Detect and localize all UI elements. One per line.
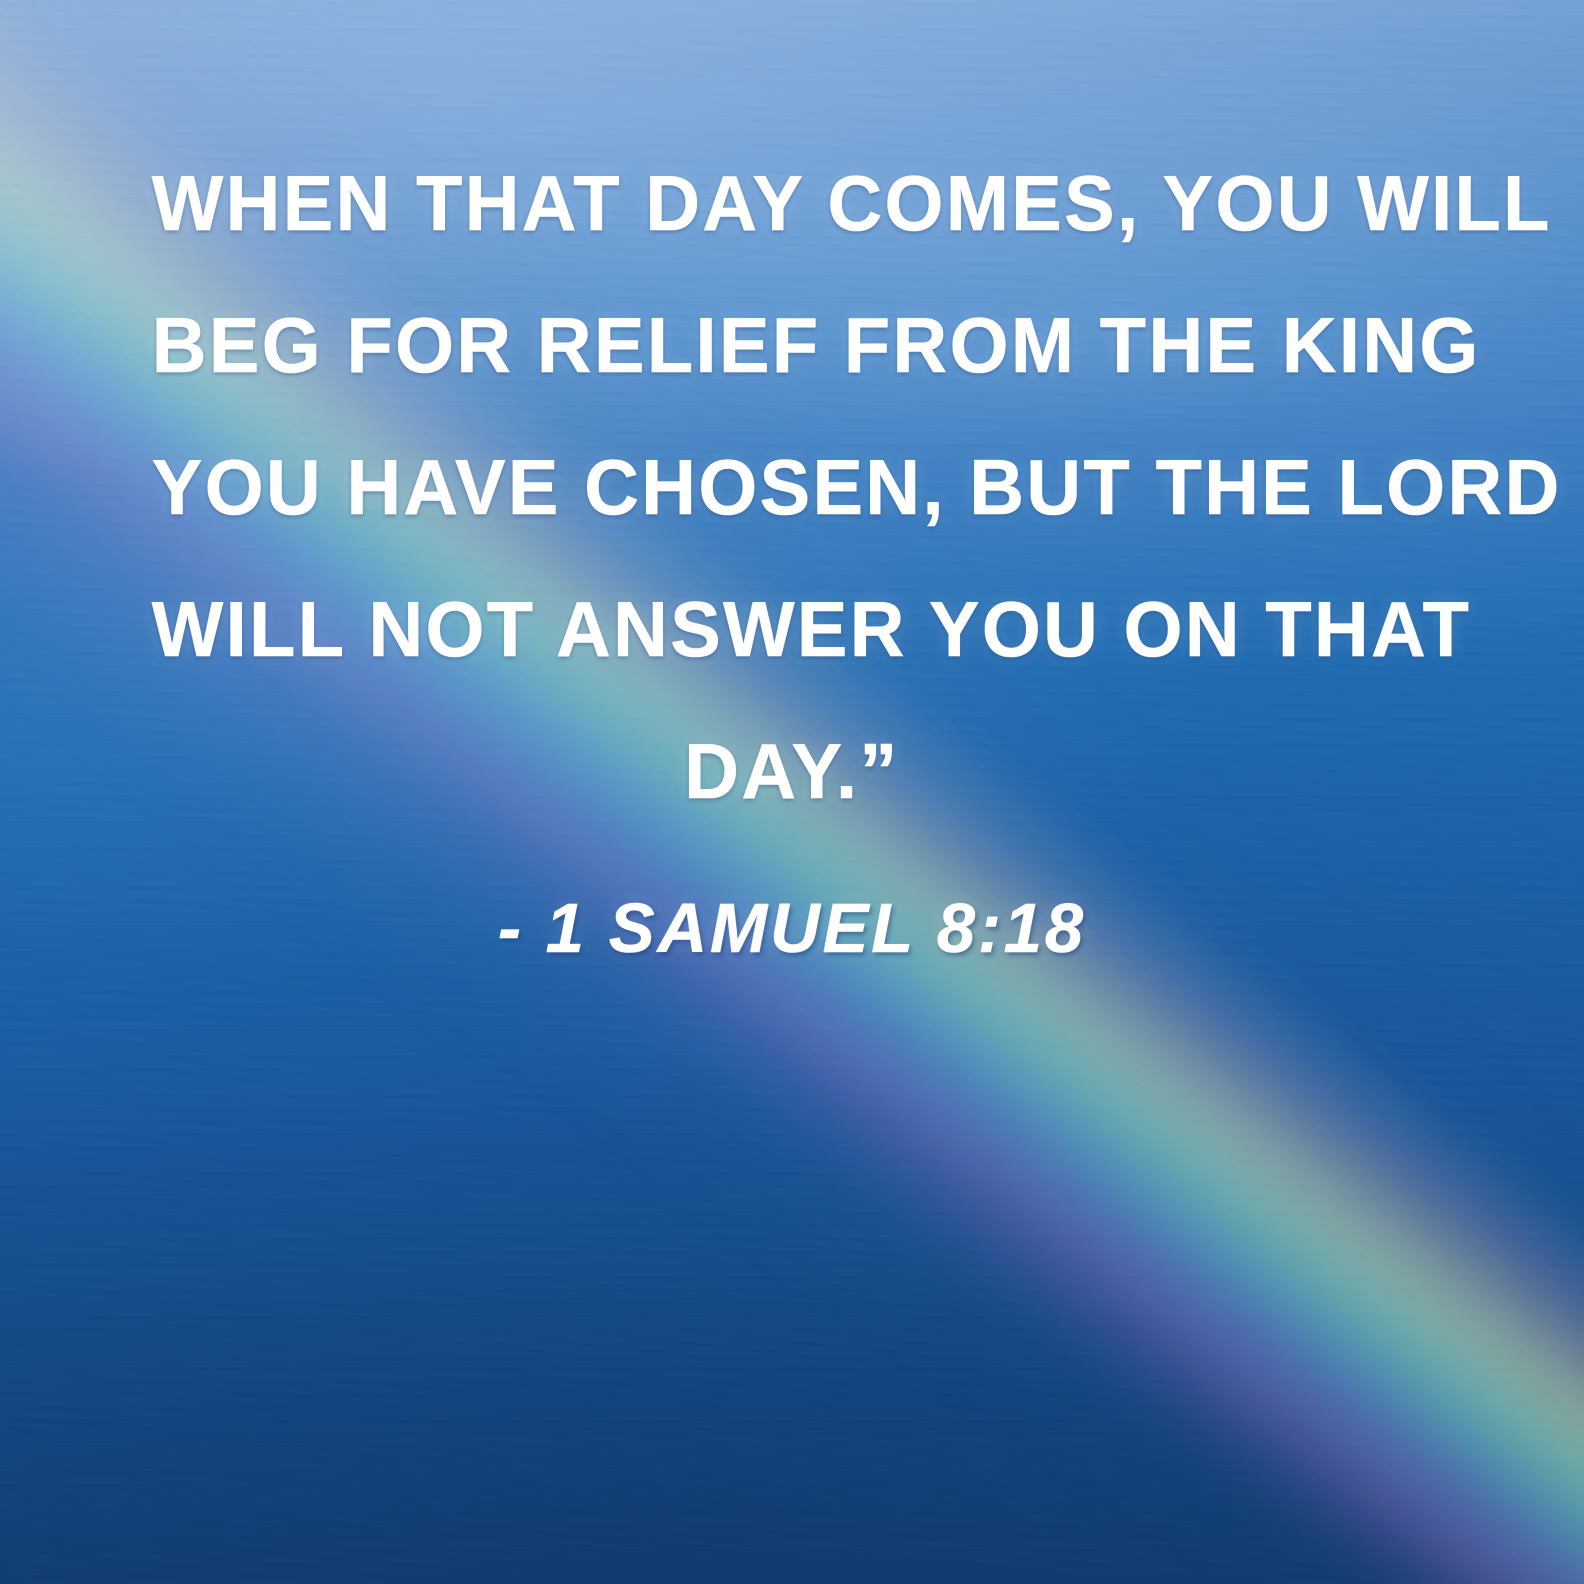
verse-line-1: When that day comes, you will xyxy=(152,132,1432,274)
verse-line-2: beg for relief from the king xyxy=(152,274,1432,416)
verse-content: When that day comes, you will beg for re… xyxy=(0,0,1584,1584)
verse-line-5: day.” xyxy=(152,700,1432,842)
verse-attribution: - 1 Samuel 8:18 xyxy=(498,888,1086,968)
verse-line-4: will not answer you on that xyxy=(152,558,1432,700)
verse-text-block: When that day comes, you will beg for re… xyxy=(132,132,1452,842)
verse-image-canvas: When that day comes, you will beg for re… xyxy=(0,0,1584,1584)
verse-line-3: you have chosen, but the LORD xyxy=(152,416,1432,558)
